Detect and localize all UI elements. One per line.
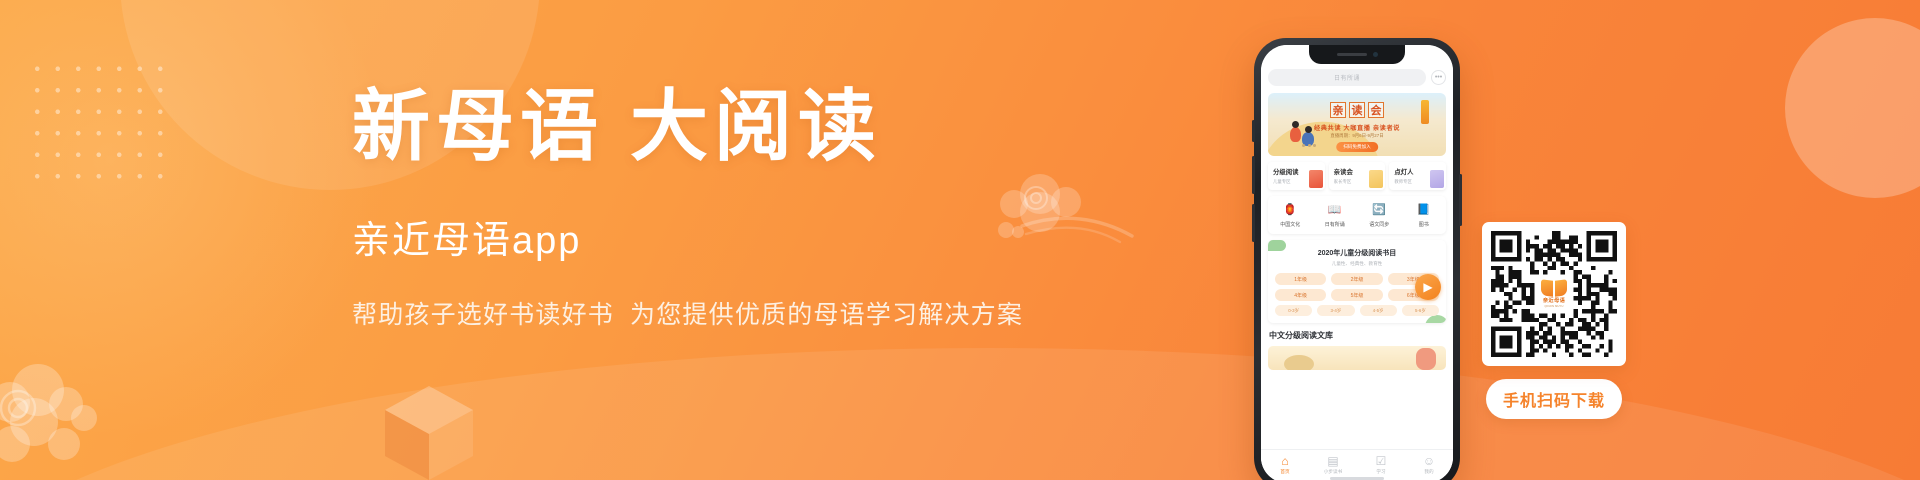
age-pill[interactable]: 3-4岁 — [1317, 305, 1354, 316]
library-section-title: 中文分级阅读文库 — [1269, 330, 1446, 341]
booklist-section: 2020年儿童分级阅读书目 儿童性、经典性、教育性 1年级 2年级 3年级 4年… — [1268, 240, 1446, 323]
booklist-title: 2020年儿童分级阅读书目 — [1275, 248, 1439, 258]
phone-notch — [1309, 45, 1405, 64]
tagline: 帮助孩子选好书读好书为您提供优质的母语学习解决方案 — [352, 295, 1012, 331]
page-title: 新母语大阅读 — [352, 86, 1012, 167]
quick-icon-label: 语文同步 — [1369, 221, 1389, 228]
grade-row-2: 4年级 5年级 6年级 — [1275, 289, 1439, 301]
headline-part-1: 新母语 — [352, 83, 604, 170]
hero-subtitle: 经典共读 大咖直播 亲读者说 — [1314, 123, 1400, 132]
hero-date-text: 直播周期：9月6日-9月27日 — [1330, 133, 1383, 139]
phone-mute-switch — [1252, 120, 1255, 142]
qr-code-card[interactable]: 亲近母语 QINJIN MUYU — [1482, 222, 1626, 366]
reading-icon: ▤ — [1327, 455, 1338, 467]
tab-label: 小步读书 — [1324, 469, 1342, 475]
qr-download-block: 亲近母语 QINJIN MUYU 手机扫码下载 — [1482, 222, 1626, 419]
quick-icon-books[interactable]: 📘 图书 — [1402, 203, 1447, 228]
search-placeholder: 日有所诵 — [1334, 73, 1360, 82]
hero-title-char: 会 — [1368, 102, 1384, 118]
quick-icon-label: 图书 — [1419, 221, 1429, 228]
grade-pill[interactable]: 4年级 — [1275, 289, 1326, 301]
card-art-icon — [1369, 170, 1383, 188]
dot-grid-decoration — [24, 55, 172, 195]
tab-label: 我的 — [1424, 469, 1433, 475]
card-reading-club[interactable]: 亲读会 家长专区 — [1329, 162, 1386, 190]
quick-icon-daily-recitation[interactable]: 📖 日有所诵 — [1313, 203, 1358, 228]
study-icon: ☑ — [1376, 455, 1387, 467]
search-row: 日有所诵 ••• — [1268, 69, 1446, 86]
card-lamplighter[interactable]: 点灯人 教师专区 — [1389, 162, 1446, 190]
quick-icon-language-sync[interactable]: 🔄 语文同步 — [1357, 203, 1402, 228]
lantern-icon: 🏮 — [1283, 203, 1298, 218]
tagline-part-2: 为您提供优质的母语学习解决方案 — [630, 301, 1023, 329]
category-cards: 分级阅读 儿童专区 亲读会 家长专区 点灯人 教师专区 — [1268, 162, 1446, 190]
tab-label: 学习 — [1376, 469, 1385, 475]
grade-pill[interactable]: 1年级 — [1275, 273, 1326, 285]
banner-copy: 新母语大阅读 亲近母语app 帮助孩子选好书读好书为您提供优质的母语学习解决方案 — [352, 86, 1012, 331]
earpiece-speaker — [1337, 53, 1367, 56]
tab-label: 首页 — [1280, 469, 1289, 475]
qr-logo-en: QINJIN MUYU — [1544, 305, 1563, 308]
booklist-subtitle: 儿童性、经典性、教育性 — [1275, 261, 1439, 267]
app-name-subtitle: 亲近母语app — [352, 219, 1012, 265]
phone-mockup: 日有所诵 ••• 亲 读 会 经典共读 大咖直播 亲读者说 — [1254, 38, 1460, 480]
front-camera-icon — [1373, 52, 1378, 57]
phone-power-button — [1459, 174, 1462, 226]
more-horizontal-icon[interactable]: ••• — [1431, 70, 1446, 85]
promo-banner: 新母语大阅读 亲近母语app 帮助孩子选好书读好书为您提供优质的母语学习解决方案… — [0, 0, 1920, 480]
glow-decoration — [0, 0, 390, 440]
home-icon: ⌂ — [1281, 455, 1288, 467]
tab-profile[interactable]: ☺ 我的 — [1405, 455, 1453, 475]
book-open-icon: 📖 — [1327, 203, 1342, 218]
age-row: 0-3岁 3-4岁 4-5岁 5-6岁 — [1275, 305, 1439, 316]
circle-decoration-top-right — [1785, 18, 1920, 198]
cube-decoration — [383, 384, 475, 480]
age-pill[interactable]: 4-5岁 — [1360, 305, 1397, 316]
leaf-decoration-top-left — [1268, 240, 1286, 251]
age-pill[interactable]: 0-3岁 — [1275, 305, 1312, 316]
library-art-1 — [1284, 355, 1314, 370]
video-play-icon[interactable]: ▶ — [1415, 274, 1441, 300]
hero-banner-card[interactable]: 亲 读 会 经典共读 大咖直播 亲读者说 直播周期：9月6日-9月27日 扫码免… — [1268, 93, 1446, 156]
phone-volume-up-button — [1252, 156, 1255, 194]
book-icon: 📘 — [1416, 203, 1431, 218]
card-graded-reading[interactable]: 分级阅读 儿童专区 — [1268, 162, 1325, 190]
cloud-decoration-left — [0, 356, 114, 464]
grade-pill[interactable]: 2年级 — [1331, 273, 1382, 285]
hero-title-char: 读 — [1349, 102, 1365, 118]
card-art-icon — [1430, 170, 1444, 188]
quick-icon-chinese-culture[interactable]: 🏮 中国文化 — [1268, 203, 1313, 228]
booklist-filters: 1年级 2年级 3年级 4年级 5年级 6年级 0-3岁 3-4岁 4- — [1275, 273, 1439, 316]
qr-center-logo: 亲近母语 QINJIN MUYU — [1536, 276, 1572, 312]
bottom-tab-bar: ⌂ 首页 ▤ 小步读书 ☑ 学习 ☺ 我的 — [1261, 449, 1453, 480]
quick-icon-label: 日有所诵 — [1325, 221, 1345, 228]
scan-to-download-button[interactable]: 手机扫码下载 — [1486, 379, 1622, 419]
hero-child-illustration-1 — [1290, 127, 1301, 142]
cloud-decoration-right — [992, 168, 1152, 252]
quick-icon-label: 中国文化 — [1280, 221, 1300, 228]
tab-study[interactable]: ☑ 学习 — [1357, 455, 1405, 475]
app-home-screen: 日有所诵 ••• 亲 读 会 经典共读 大咖直播 亲读者说 — [1261, 45, 1453, 480]
hero-cta-button[interactable]: 扫码免费加入 — [1336, 142, 1378, 152]
tagline-part-1: 帮助孩子选好书读好书 — [352, 301, 614, 329]
hero-title-char: 亲 — [1330, 102, 1346, 118]
hero-title: 亲 读 会 — [1330, 102, 1384, 118]
leaf-decoration-bottom-right — [1425, 315, 1446, 323]
qr-logo-name: 亲近母语 — [1543, 297, 1565, 304]
sync-icon: 🔄 — [1372, 203, 1387, 218]
library-art-2 — [1416, 348, 1436, 370]
headline-part-2: 大阅读 — [630, 83, 882, 170]
carousel-dots[interactable] — [1302, 144, 1316, 147]
tab-reading[interactable]: ▤ 小步读书 — [1309, 455, 1357, 475]
phone-screen: 日有所诵 ••• 亲 读 会 经典共读 大咖直播 亲读者说 — [1261, 45, 1453, 480]
phone-volume-down-button — [1252, 204, 1255, 242]
grade-pill[interactable]: 5年级 — [1331, 289, 1382, 301]
card-art-icon — [1309, 170, 1323, 188]
hero-flag-art — [1421, 100, 1429, 124]
library-card[interactable] — [1268, 346, 1446, 370]
profile-icon: ☺ — [1423, 455, 1435, 467]
play-glyph: ▶ — [1423, 281, 1432, 293]
open-book-logo — [1541, 280, 1567, 296]
hill-decoration — [0, 348, 1920, 480]
quick-access-icons: 🏮 中国文化 📖 日有所诵 🔄 语文同步 📘 图书 — [1268, 196, 1446, 234]
search-input[interactable]: 日有所诵 — [1268, 69, 1426, 86]
age-pill[interactable]: 5-6岁 — [1402, 305, 1439, 316]
tab-home[interactable]: ⌂ 首页 — [1261, 455, 1309, 475]
